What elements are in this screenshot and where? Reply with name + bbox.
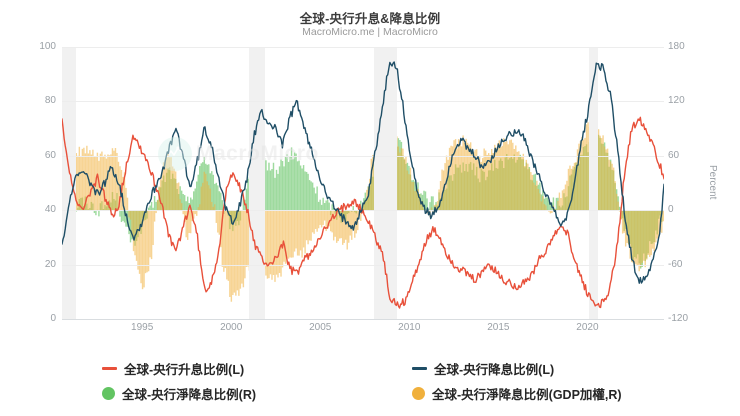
x-tick: 2020: [576, 322, 598, 333]
plot-area: MacroMicro: [62, 47, 664, 319]
legend-label: 全球-央行升息比例(L): [124, 359, 244, 378]
y-tick-left: 80: [12, 95, 56, 106]
legend-line-marker: [412, 367, 427, 370]
y-tick-left: 20: [12, 259, 56, 270]
legend-net-cut-ratio-gdp[interactable]: 全球-央行淨降息比例(GDP加權,R): [372, 381, 682, 406]
x-tick: 2015: [487, 322, 509, 333]
chart-container: 全球-央行升息&降息比例 MacroMicro.me | MacroMicro …: [0, 0, 740, 416]
y-axis-left: Percent 020406080100: [6, 47, 56, 319]
legend-rate-cut-ratio[interactable]: 全球-央行降息比例(L): [372, 356, 682, 381]
y-tick-right: -60: [668, 259, 712, 270]
legend-label: 全球-央行淨降息比例(R): [122, 384, 256, 403]
y-tick-right: 120: [668, 95, 712, 106]
y-tick-left: 0: [12, 313, 56, 324]
legend-rate-hike-ratio[interactable]: 全球-央行升息比例(L): [62, 356, 372, 381]
chart-subtitle: MacroMicro.me | MacroMicro: [0, 26, 740, 38]
page-title: 全球-央行升息&降息比例: [0, 8, 740, 27]
y-tick-right: -120: [668, 313, 712, 324]
x-tick: 2000: [220, 322, 242, 333]
line-series: [62, 117, 664, 308]
chart-legend: 全球-央行升息比例(L)全球-央行降息比例(L)全球-央行淨降息比例(R)全球-…: [62, 356, 682, 408]
y-tick-left: 40: [12, 204, 56, 215]
legend-net-cut-ratio[interactable]: 全球-央行淨降息比例(R): [62, 381, 372, 406]
x-axis-line: [62, 319, 664, 320]
y-tick-right: 60: [668, 150, 712, 161]
y-tick-right: 0: [668, 204, 712, 215]
x-tick: 1995: [131, 322, 153, 333]
legend-label: 全球-央行淨降息比例(GDP加權,R): [432, 384, 622, 403]
y-tick-right: 180: [668, 41, 712, 52]
legend-dot-marker: [412, 387, 425, 400]
legend-line-marker: [102, 367, 117, 370]
x-axis-ticks: 199520002005201020152020: [62, 322, 664, 342]
legend-dot-marker: [102, 387, 115, 400]
x-tick: 2010: [398, 322, 420, 333]
line-series-layer: [62, 47, 664, 319]
legend-label: 全球-央行降息比例(L): [434, 359, 554, 378]
x-tick: 2005: [309, 322, 331, 333]
y-tick-left: 60: [12, 150, 56, 161]
y-tick-left: 100: [12, 41, 56, 52]
y-axis-right-title: Percent: [707, 165, 718, 199]
